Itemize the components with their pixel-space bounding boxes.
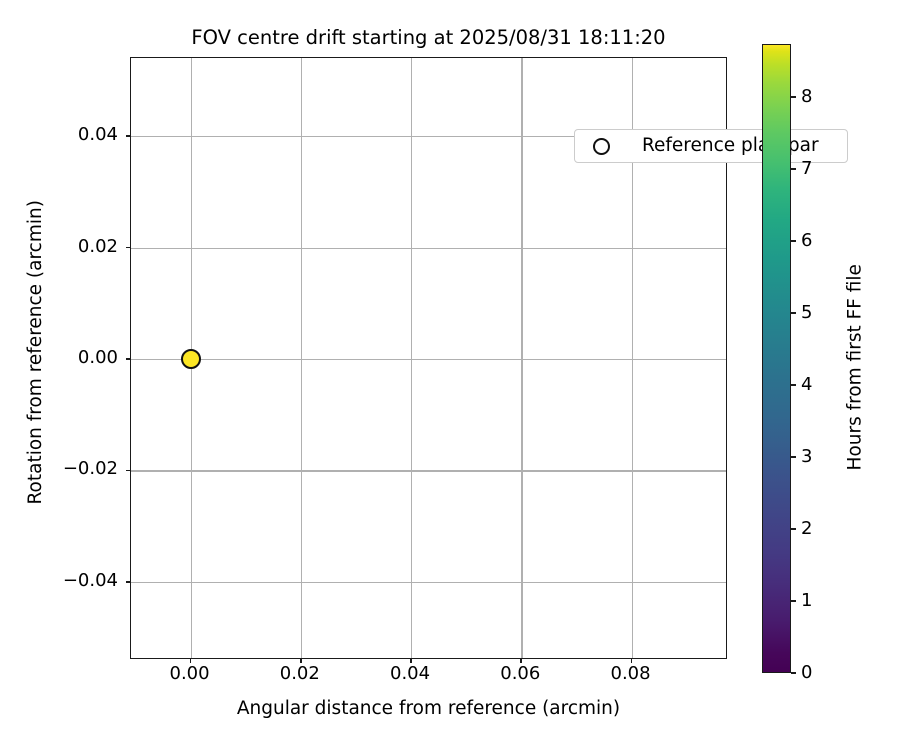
colorbar-tick-mark (791, 240, 796, 242)
colorbar-tick-mark (791, 600, 796, 602)
y-tick-label: −0.04 (0, 572, 118, 590)
gridline-horizontal (131, 248, 726, 249)
y-tick-label: 0.02 (0, 238, 118, 256)
gridline-vertical (411, 58, 412, 658)
colorbar-tick-label: 2 (801, 520, 812, 538)
plot-axes[interactable]: Reference platepar (130, 57, 727, 659)
y-tick-label: 0.04 (0, 126, 118, 144)
gridline-horizontal (131, 582, 726, 583)
colorbar-tick-mark (791, 672, 796, 674)
legend-marker-open-circle-icon (593, 138, 610, 155)
x-tick-label: 0.04 (390, 665, 430, 683)
colorbar-tick-label: 0 (801, 664, 812, 682)
colorbar-tick-label: 3 (801, 448, 812, 466)
y-tick-label: −0.02 (0, 460, 118, 478)
colorbar-tick-mark (791, 168, 796, 170)
x-tick-label: 0.08 (610, 665, 650, 683)
colorbar-tick-label: 7 (801, 160, 812, 178)
gridline-horizontal (131, 470, 726, 471)
x-tick-label: 0.02 (280, 665, 320, 683)
colorbar-tick-label: 6 (801, 232, 812, 250)
y-tick-mark (126, 470, 131, 472)
y-tick-label: 0.00 (0, 349, 118, 367)
colorbar-label: Hours from first FF file (846, 53, 865, 682)
colorbar-tick-mark (791, 384, 796, 386)
x-axis-label: Angular distance from reference (arcmin) (130, 700, 727, 719)
gridline-vertical (521, 58, 522, 658)
y-axis-label: Rotation from reference (arcmin) (27, 51, 46, 653)
colorbar-tick-label: 5 (801, 304, 812, 322)
data-point (181, 349, 201, 369)
colorbar-gradient (762, 44, 791, 673)
colorbar-tick-mark (791, 312, 796, 314)
gridline-horizontal (131, 359, 726, 360)
colorbar-tick-label: 8 (801, 88, 812, 106)
colorbar-tick-mark (791, 96, 796, 98)
colorbar-tick-label: 1 (801, 592, 812, 610)
y-tick-mark (126, 135, 131, 137)
colorbar-tick-mark (791, 456, 796, 458)
y-tick-mark (126, 358, 131, 360)
legend-label: Reference platepar (642, 137, 819, 156)
x-tick-label: 0.00 (169, 665, 209, 683)
y-tick-mark (126, 581, 131, 583)
colorbar[interactable]: 012345678 (762, 44, 791, 673)
colorbar-tick-mark (791, 528, 796, 530)
gridline-vertical (301, 58, 302, 658)
chart-figure: FOV centre drift starting at 2025/08/31 … (0, 0, 900, 750)
chart-title: FOV centre drift starting at 2025/08/31 … (130, 28, 727, 48)
colorbar-tick-label: 4 (801, 376, 812, 394)
y-tick-mark (126, 247, 131, 249)
x-tick-label: 0.06 (500, 665, 540, 683)
